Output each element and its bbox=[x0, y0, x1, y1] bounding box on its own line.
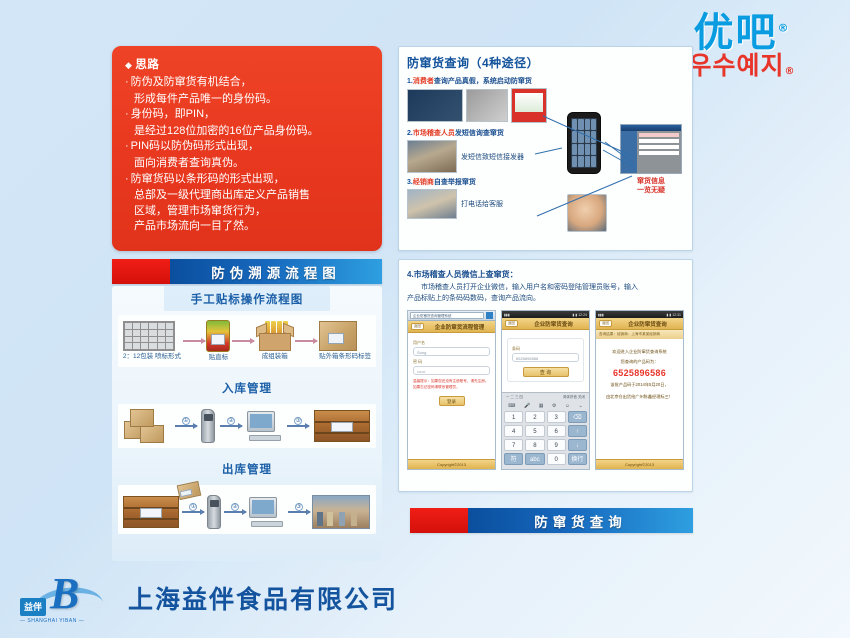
section-blue-block: 防窜货查询 bbox=[468, 508, 693, 533]
wechat-query-card: 4.市场稽查人员微信上查窜货： 市场稽查人员打开企业微信，输入用户名和密码登陆管… bbox=[398, 259, 693, 492]
phone-screenshot-result: ▮▮▮▮ ▮ 12:31 返回 企业防窜货查询 查询结果：经销商：上海市某某经销… bbox=[595, 310, 684, 470]
arrow-label-call: 打电话给客服 bbox=[461, 199, 503, 209]
bullet-icon: · bbox=[125, 76, 129, 88]
flow-item: 成组装箱 bbox=[256, 321, 294, 361]
step-number: ① bbox=[182, 417, 190, 425]
copyright-footer: Copyright©2013 bbox=[408, 459, 495, 469]
idea-panel-title: ◆思路 bbox=[125, 56, 370, 72]
query-step-1-label: 1.消费者查询产品真假，系统启动防窜货 bbox=[407, 76, 684, 86]
result-line-4: 由北京仓出货给广州陈鑫经理标三！ bbox=[601, 393, 678, 400]
idea-item-sub: 是经过128位加密的16位产品身份码。 bbox=[125, 124, 370, 140]
status-left: ▮▮▮ bbox=[598, 313, 604, 317]
brand-registered-mark-kr: ® bbox=[785, 66, 796, 77]
keypad-toolbar: 一 二 三 四 简体拼音 关闭 bbox=[504, 395, 587, 402]
bullet-icon: · bbox=[125, 173, 129, 185]
flow-row-outbound: ① ② ③ bbox=[118, 485, 376, 534]
computer-icon bbox=[249, 497, 285, 527]
flow-caption: 贴直标 bbox=[206, 354, 230, 362]
back-button[interactable]: 返回 bbox=[505, 320, 518, 327]
step-number: ③ bbox=[294, 417, 302, 425]
step-number: ③ bbox=[295, 503, 303, 511]
idea-item-sub: 形成每件产品唯一的身份码。 bbox=[125, 92, 370, 108]
company-footer: B 益伴 — SHANGHAI YIBAN — 上海益伴食品有限公司 bbox=[20, 572, 398, 624]
key[interactable]: 8 bbox=[525, 439, 544, 451]
phone-screenshot-login: 企业防窜货查询管理系统 返回 企业防窜货流程管理 用户名 Song 密 码 ••… bbox=[407, 310, 496, 470]
result-line-1: 欢迎进入企业防窜货查询系统 bbox=[601, 348, 678, 355]
result-line-2: 您查询的产品码为： bbox=[601, 358, 678, 365]
arrow-right-icon: ② bbox=[220, 425, 242, 427]
back-button[interactable]: 返回 bbox=[411, 323, 424, 330]
step-number: ② bbox=[231, 503, 239, 511]
numeric-keypad[interactable]: 一 二 三 四 简体拼音 关闭 ⌨🎤 ▦⚙ ☺⌄ 1 2 3 ⌫ bbox=[502, 392, 589, 469]
wechat-card-title: 4.市场稽查人员微信上查窜货： bbox=[407, 269, 684, 280]
keypad-row: 4 5 6 ↑ bbox=[504, 425, 587, 437]
section-header-query: 防窜货查询 bbox=[410, 508, 693, 533]
wechat-card-body-line1: 市场稽查人员打开企业微信，输入用户名和密码登陆管理员账号，输入 bbox=[407, 282, 684, 293]
key[interactable]: 9 bbox=[547, 439, 566, 451]
arrow-right-icon: ② bbox=[224, 511, 246, 513]
username-label: 用户名 bbox=[413, 340, 490, 346]
arrow-right-icon bbox=[183, 340, 205, 342]
flow-group-title-manual: 手工贴标操作流程图 bbox=[164, 286, 330, 311]
settings-icon[interactable]: ⚙ bbox=[552, 403, 556, 409]
chevron-down-icon[interactable]: ⌄ bbox=[579, 403, 583, 409]
query-channels-card: 防窜货查询（4种途径） 1.消费者查询产品真假，系统启动防窜货 2.市场稽查人员… bbox=[398, 46, 693, 251]
status-bar: ▮▮▮▮ ▮ 12:24 bbox=[502, 311, 589, 318]
key[interactable]: 换行 bbox=[568, 453, 587, 465]
keyboard-icon[interactable]: ⌨ bbox=[508, 403, 515, 409]
smartphone-mock bbox=[567, 112, 601, 174]
idea-panel: ◆思路 ·防伪及防窜货有机结合， 形成每件产品唯一的身份码。 ·身份码，即PIN… bbox=[112, 46, 382, 251]
key[interactable]: ↓ bbox=[568, 439, 587, 451]
flow-group-title-outbound: 出库管理 bbox=[164, 456, 330, 481]
keypad-row: 符 abc 0 换行 bbox=[504, 453, 587, 465]
app-title: 企业防窜货查询 bbox=[615, 320, 680, 328]
keypad-icon-row: ⌨🎤 ▦⚙ ☺⌄ bbox=[504, 402, 587, 411]
key[interactable]: 0 bbox=[547, 453, 566, 465]
can-product-icon bbox=[206, 320, 230, 352]
emoji-icon[interactable]: ☺ bbox=[565, 403, 570, 409]
company-logo: B 益伴 — SHANGHAI YIBAN — bbox=[20, 572, 112, 624]
status-bar: ▮▮▮▮ ▮ 12:31 bbox=[596, 311, 683, 318]
idea-item-sub: 区域，管理市场窜货行为， bbox=[125, 204, 370, 220]
sealed-carton-icon bbox=[319, 321, 357, 351]
menu-icon[interactable] bbox=[486, 312, 493, 319]
section-red-block bbox=[112, 259, 170, 284]
logo-badge: 益伴 bbox=[20, 598, 46, 616]
section-header-flow-label: 防伪溯源流程图 bbox=[211, 262, 341, 282]
cartons-stack-icon bbox=[124, 409, 170, 443]
slide-root: 优吧® 우수예지® ◆思路 ·防伪及防窜货有机结合， 形成每件产品唯一的身份码。… bbox=[0, 0, 850, 638]
search-button[interactable]: 查 询 bbox=[523, 367, 569, 377]
customer-service-photo bbox=[567, 194, 607, 232]
inspectors-photo bbox=[407, 140, 457, 173]
computer-user-photo bbox=[407, 89, 463, 122]
app-title: 企业防窜货流程管理 bbox=[427, 323, 492, 331]
dealer-photo bbox=[407, 189, 457, 219]
status-right: ▮ ▮ 12:31 bbox=[666, 313, 681, 317]
arrow-label-sms: 发短信致短信接发器 bbox=[461, 152, 524, 162]
section-header-flow: 防伪溯源流程图 bbox=[112, 259, 382, 284]
step-number: ① bbox=[189, 503, 197, 511]
label-sheet-icon bbox=[123, 321, 175, 351]
flow-caption: 成组装箱 bbox=[256, 353, 294, 361]
open-carton-icon bbox=[256, 321, 294, 351]
url-input[interactable]: 企业防窜货查询管理系统 bbox=[410, 312, 484, 319]
barcode-form-card: 条码 6525896586 查 询 bbox=[507, 338, 584, 382]
result-caption-line2: 一览无疑 bbox=[620, 186, 682, 195]
bullet-icon: · bbox=[125, 140, 129, 152]
bullet-icon: · bbox=[125, 108, 129, 120]
password-label: 密 码 bbox=[413, 359, 490, 365]
idea-item-sub: 面向消费者查询真伪。 bbox=[125, 156, 370, 172]
logo-pinyin: — SHANGHAI YIBAN — bbox=[20, 618, 84, 624]
key[interactable]: 3 bbox=[547, 411, 566, 423]
keypad-toolbar-right: 简体拼音 关闭 bbox=[563, 395, 585, 400]
status-right: ▮ ▮ 12:24 bbox=[572, 313, 587, 317]
kiosk-terminal-photo bbox=[511, 88, 547, 123]
flow-item: 2：12包装 喷标形式 bbox=[123, 321, 181, 361]
computer-icon bbox=[247, 411, 283, 441]
keypad-toolbar-left: 一 二 三 四 bbox=[506, 395, 523, 400]
idea-item-sub: 总部及一级代理商出库定义产品销售 bbox=[125, 188, 370, 204]
barcode-scanner-icon bbox=[207, 495, 221, 529]
diamond-bullet-icon: ◆ bbox=[125, 60, 132, 70]
login-form: 用户名 Song 密 码 •••••• 温馨提示：如果您还没有注册账号，请先注册… bbox=[408, 333, 495, 459]
login-button[interactable]: 登录 bbox=[439, 396, 465, 406]
phone-screenshots: 企业防窜货查询管理系统 返回 企业防窜货流程管理 用户名 Song 密 码 ••… bbox=[407, 310, 684, 470]
result-body: 欢迎进入企业防窜货查询系统 您查询的产品码为： 6525896586 该批产品码… bbox=[596, 339, 683, 459]
mic-icon[interactable]: 🎤 bbox=[524, 403, 530, 409]
app-bar: 返回 企业防窜货流程管理 bbox=[408, 321, 495, 333]
app-title: 企业防窜货查询 bbox=[521, 320, 586, 328]
idea-item: ·身份码，即PIN， bbox=[125, 107, 370, 123]
key[interactable]: 6 bbox=[547, 425, 566, 437]
admin-window-mock bbox=[620, 124, 682, 174]
key[interactable]: 2 bbox=[525, 411, 544, 423]
flow-row-manual: 2：12包装 喷标形式 贴直标 成组装箱 贴外箱条形码标签 bbox=[118, 315, 376, 367]
backspace-key[interactable]: ⌫ bbox=[568, 411, 587, 423]
arrow-right-icon bbox=[232, 340, 254, 342]
flow-group-title-inbound: 入库管理 bbox=[164, 375, 330, 400]
browser-url-bar[interactable]: 企业防窜货查询管理系统 bbox=[408, 311, 495, 321]
result-line-3: 该批产品码于2014年5月20日， bbox=[601, 381, 678, 388]
username-input[interactable]: Song bbox=[413, 347, 490, 356]
key[interactable]: 符 bbox=[504, 453, 523, 465]
flow-row-inbound: ① ② ③ bbox=[118, 404, 376, 448]
idea-item: ·防窜货码以条形码的形式出现， bbox=[125, 172, 370, 188]
arrow-right-icon: ① bbox=[182, 511, 204, 513]
brand-registered-mark: ® bbox=[778, 22, 791, 35]
arrow-right-icon: ③ bbox=[287, 425, 309, 427]
arrow-right-icon: ① bbox=[175, 425, 197, 427]
retail-store-icon bbox=[312, 495, 370, 529]
section-red-block bbox=[410, 508, 468, 533]
warehouse-shelf-icon bbox=[123, 496, 179, 528]
back-button[interactable]: 返回 bbox=[599, 320, 612, 327]
barcode-label: 条码 bbox=[512, 346, 579, 352]
hand-phone-photo bbox=[466, 89, 508, 122]
section-blue-block: 防伪溯源流程图 bbox=[170, 259, 382, 284]
login-warning-text: 温馨提示：如果您还没有注册账号，请先注册。如果忘记密码请联系管理员。 bbox=[413, 379, 490, 389]
keypad-row: 1 2 3 ⌫ bbox=[504, 411, 587, 423]
password-input[interactable]: •••••• bbox=[413, 366, 490, 375]
query-card-title: 防窜货查询（4种途径） bbox=[407, 54, 684, 71]
keypad-row: 7 8 9 ↓ bbox=[504, 439, 587, 451]
key[interactable]: ↑ bbox=[568, 425, 587, 437]
logo-letter-b: B bbox=[50, 572, 79, 616]
result-product-code: 6525896586 bbox=[601, 368, 678, 378]
query-result-block: 窜货信息 一览无疑 bbox=[620, 124, 682, 196]
flow-item: 贴外箱条形码标签 bbox=[319, 321, 371, 361]
wechat-card-body-line2: 产品标贴上的条码码数码，查询产品流向。 bbox=[407, 293, 684, 304]
key[interactable]: 7 bbox=[504, 439, 523, 451]
warehouse-shelf-icon bbox=[314, 410, 370, 442]
result-summary-bar: 查询结果：经销商：上海市某某经销商 bbox=[596, 330, 683, 339]
section-header-query-label: 防窜货查询 bbox=[534, 511, 627, 531]
key[interactable]: 1 bbox=[504, 411, 523, 423]
barcode-form: 条码 6525896586 查 询 bbox=[502, 330, 589, 392]
key[interactable]: abc bbox=[525, 453, 544, 465]
query-diagram: 1.消费者查询产品真假，系统启动防窜货 2.市场稽查人员发短信询查窜货 发短信致… bbox=[407, 76, 684, 241]
company-name: 上海益伴食品有限公司 bbox=[128, 580, 398, 616]
status-left: ▮▮▮ bbox=[504, 313, 510, 317]
grid-icon[interactable]: ▦ bbox=[539, 403, 544, 409]
flow-panel: 手工贴标操作流程图 2：12包装 喷标形式 贴直标 成组装箱 bbox=[112, 286, 382, 561]
phone-screenshot-input: ▮▮▮▮ ▮ 12:24 返回 企业防窜货查询 条码 6525896586 查 … bbox=[501, 310, 590, 470]
idea-item-sub: 产品市场流向一目了然。 bbox=[125, 219, 370, 235]
idea-item: ·防伪及防窜货有机结合， bbox=[125, 75, 370, 91]
flow-caption: 贴外箱条形码标签 bbox=[319, 353, 371, 361]
barcode-scanner-icon bbox=[201, 409, 215, 443]
barcode-input[interactable]: 6525896586 bbox=[512, 353, 579, 362]
key[interactable]: 4 bbox=[504, 425, 523, 437]
idea-item: ·PIN码以防伪码形式出现， bbox=[125, 139, 370, 155]
flow-caption: 2：12包装 喷标形式 bbox=[123, 353, 181, 361]
key[interactable]: 5 bbox=[525, 425, 544, 437]
arrow-right-icon: ③ bbox=[288, 511, 310, 513]
step-number: ② bbox=[227, 417, 235, 425]
flow-item: 贴直标 bbox=[206, 320, 230, 362]
app-bar: 返回 企业防窜货查询 bbox=[502, 318, 589, 330]
query-step-1-images bbox=[407, 88, 684, 123]
copyright-footer: Copyright©2013 bbox=[596, 459, 683, 469]
arrow-right-icon bbox=[295, 340, 317, 342]
result-caption-line1: 窜货信息 bbox=[620, 177, 682, 186]
app-bar: 返回 企业防窜货查询 bbox=[596, 318, 683, 330]
carton-callout-icon bbox=[176, 481, 204, 503]
